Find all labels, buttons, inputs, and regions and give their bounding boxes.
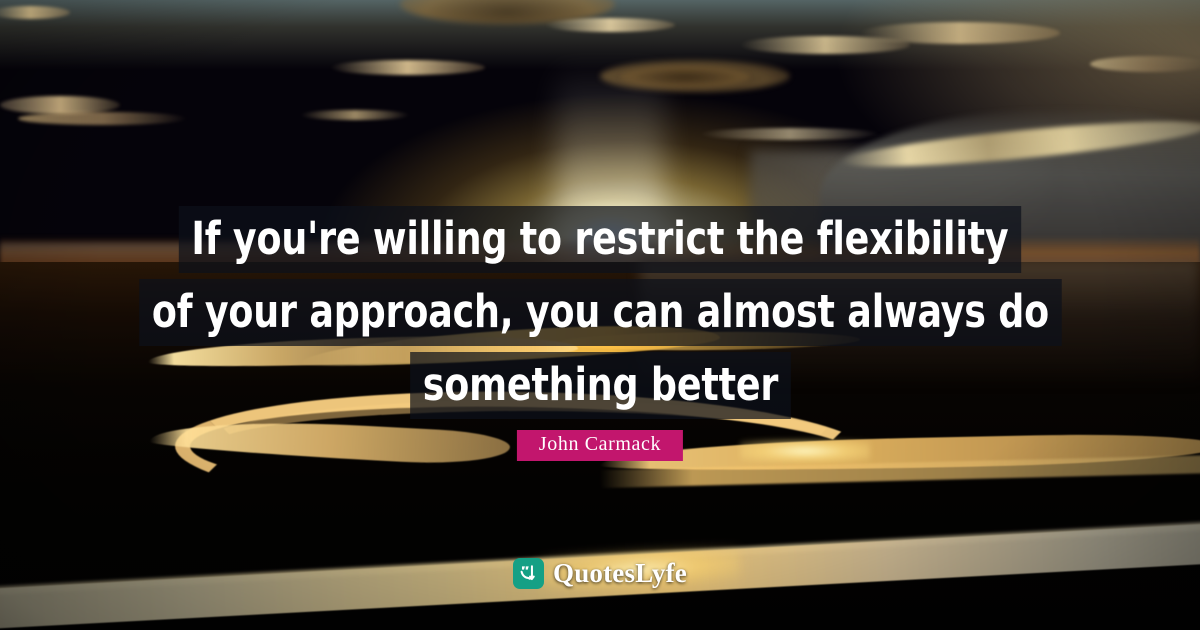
quoteslyfe-logo[interactable]: QuotesLyfe xyxy=(513,558,687,589)
cloud-wisp xyxy=(700,128,880,140)
quote-line-3: something better xyxy=(410,352,791,419)
quote-line-1: If you're willing to restrict the flexib… xyxy=(179,206,1021,273)
quote-smiley-icon xyxy=(513,558,544,589)
quote-text-block: If you're willing to restrict the flexib… xyxy=(0,206,1200,419)
cloud-wisp xyxy=(860,22,1060,44)
cloud-wisp xyxy=(18,112,188,125)
author-badge: John Carmack xyxy=(517,430,683,461)
quote-card: If you're willing to restrict the flexib… xyxy=(0,0,1200,630)
quoteslyfe-wordmark: QuotesLyfe xyxy=(553,558,687,589)
quote-line-2: of your approach, you can almost always … xyxy=(139,279,1061,346)
cloud-wisp xyxy=(330,60,485,75)
cloud-wisp xyxy=(545,18,675,32)
river-sun-highlight xyxy=(740,440,870,462)
cloud-wisp xyxy=(1090,56,1200,72)
cloud-wisp xyxy=(300,110,410,120)
cloud-dark xyxy=(620,66,750,88)
